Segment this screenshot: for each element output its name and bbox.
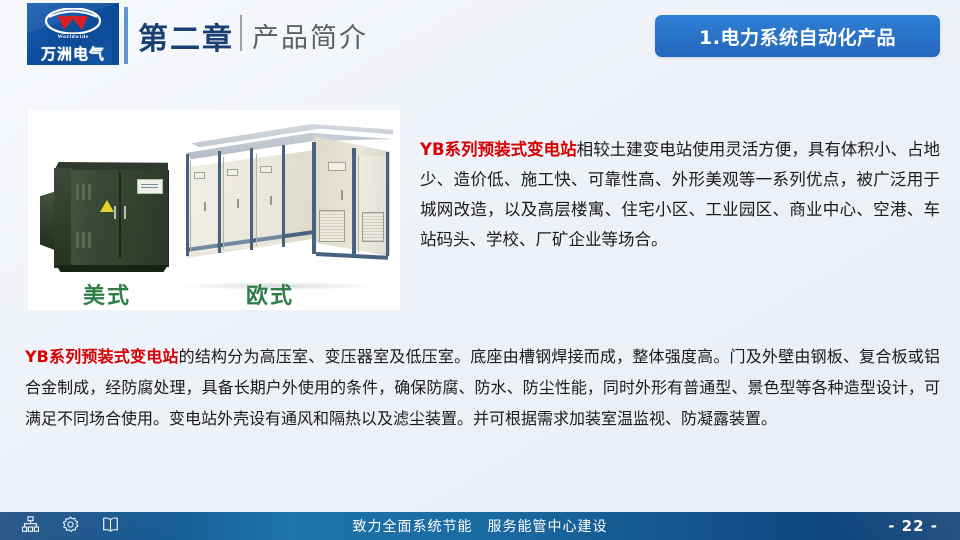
header-accent-bar-thick — [112, 7, 119, 64]
detail-paragraph-block: YB系列预装式变电站的结构分为高压室、变压器室及低压室。底座由槽钢焊接而成，整体… — [25, 325, 940, 450]
warning-triangle-icon — [100, 200, 114, 212]
eu-frame-post — [250, 148, 253, 250]
header-accent-bar-thin — [124, 7, 128, 64]
us-vent — [88, 232, 91, 248]
section-banner: 1.电力系统自动化产品 — [655, 15, 940, 57]
detail-paragraph: YB系列预装式变电站的结构分为高压室、变压器室及低压室。底座由槽钢焊接而成，整体… — [25, 341, 940, 434]
eu-label-tag — [194, 172, 205, 179]
eu-frame-post — [186, 154, 189, 256]
us-vent — [88, 184, 91, 200]
page-number: - 22 - — [888, 512, 938, 540]
us-door-handle — [114, 206, 116, 219]
section-banner-label: 1.电力系统自动化产品 — [699, 23, 896, 50]
intro-paragraph: YB系列预装式变电站相较土建变电站使用灵活方便，具有体积小、占地少、造价低、施工… — [420, 135, 940, 255]
eu-frame-post — [386, 152, 389, 256]
caption-american-style: 美式 — [83, 278, 131, 310]
w-shield-icon — [45, 8, 101, 34]
logo-english-name: Worldwide — [27, 34, 119, 40]
caption-european-style: 欧式 — [246, 278, 294, 310]
eu-corner-post — [312, 142, 316, 254]
eu-label-tag — [328, 162, 346, 171]
eu-door-handle — [341, 190, 343, 200]
chapter-title: 第二章 — [138, 14, 234, 58]
us-vent — [82, 184, 85, 200]
eu-ventilation-grille — [362, 212, 384, 242]
us-side-panel — [54, 168, 72, 268]
us-vent — [76, 232, 79, 248]
eu-label-tag — [260, 166, 272, 173]
detail-highlight: YB系列预装式变电站 — [25, 347, 179, 366]
page-number-text: - 22 - — [888, 517, 938, 535]
eu-frame-post — [352, 148, 356, 258]
slide-header: Worldwide 万洲电气 第二章 产品简介 1.电力系统自动化产品 — [0, 0, 960, 72]
title-separator — [240, 15, 242, 51]
us-vent — [82, 232, 85, 248]
us-door-seam — [119, 172, 121, 258]
footer-slogan-text: 致力全面系统节能 服务能管中心建设 — [353, 516, 608, 536]
us-door-handle — [124, 206, 126, 219]
us-vent — [76, 184, 79, 200]
eu-door-handle — [237, 199, 239, 208]
american-style-substation-image — [40, 162, 168, 272]
slide-footer: 致力全面系统节能 服务能管中心建设 - 22 - — [0, 512, 960, 540]
page-subtitle: 产品简介 — [252, 16, 368, 55]
intro-paragraph-block: YB系列预装式变电站相较土建变电站使用灵活方便，具有体积小、占地少、造价低、施工… — [420, 118, 940, 271]
eu-ventilation-grille — [319, 210, 345, 242]
eu-door-handle — [270, 196, 272, 205]
footer-slogan: 致力全面系统节能 服务能管中心建设 — [0, 512, 960, 540]
eu-label-tag — [227, 169, 238, 176]
us-nameplate — [137, 179, 163, 194]
eu-frame-post — [282, 145, 285, 247]
logo-chinese-name: 万洲电气 — [27, 43, 119, 64]
eu-frame-post — [218, 151, 221, 253]
intro-highlight: YB系列预装式变电站 — [420, 140, 577, 159]
european-style-substation-image — [178, 124, 393, 284]
product-photo-panel: 美式 欧式 — [28, 110, 400, 310]
us-base — [56, 265, 168, 272]
company-logo: Worldwide 万洲电气 — [27, 3, 119, 65]
eu-door-handle — [204, 202, 206, 211]
